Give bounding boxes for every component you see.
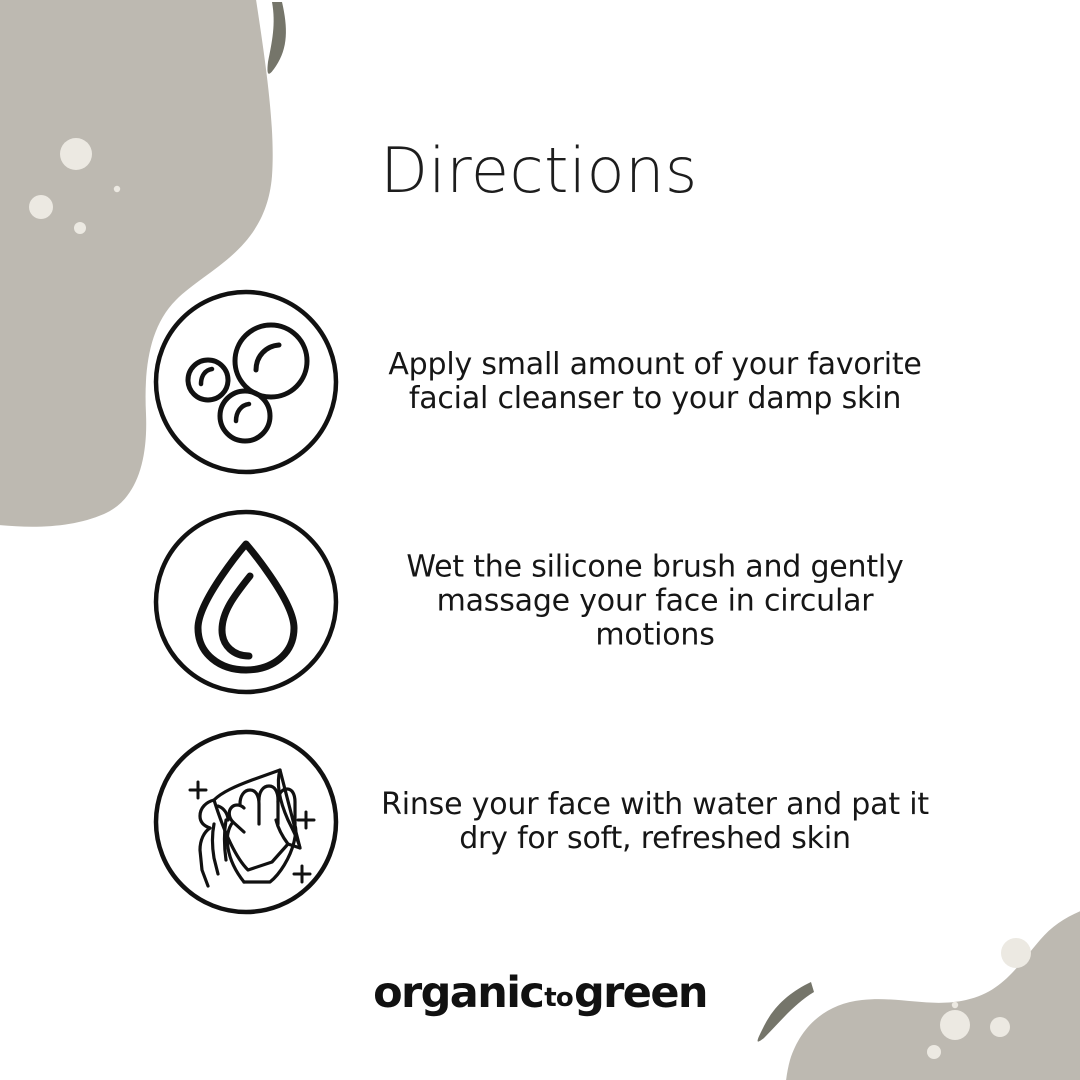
brand-logo: organictogreen <box>0 968 1080 1018</box>
blob-dot <box>990 1017 1010 1037</box>
page-title-text: Directions <box>380 134 697 207</box>
directions-infographic: Directions Apply small amount of your fa… <box>0 0 1080 1080</box>
step-text-line: massage your face in circular <box>370 585 940 619</box>
water-droplet-icon <box>152 508 340 696</box>
blob-dot <box>1001 938 1031 968</box>
step-item: Rinse your face with water and pat it dr… <box>0 712 1080 932</box>
top-crescent-arc <box>267 2 285 74</box>
step-text: Rinse your face with water and pat it dr… <box>370 788 940 856</box>
step-text-line: Apply small amount of your favorite <box>370 348 940 382</box>
brand-logo-word-one: organic <box>373 968 543 1018</box>
step-text-line: Wet the silicone brush and gently <box>370 551 940 585</box>
step-text-line: dry for soft, refreshed skin <box>370 822 940 856</box>
step-text: Apply small amount of your favorite faci… <box>370 348 940 416</box>
blob-dot <box>74 222 86 234</box>
step-text: Wet the silicone brush and gently massag… <box>370 551 940 654</box>
step-text-line: Rinse your face with water and pat it <box>370 788 940 822</box>
brand-logo-word-two: green <box>574 968 707 1018</box>
wiping-cloth-icon <box>152 728 340 916</box>
step-text-line: motions <box>370 619 940 653</box>
brand-logo-word-mid: to <box>544 983 573 1013</box>
steps-list: Apply small amount of your favorite faci… <box>0 272 1080 932</box>
blob-dot <box>927 1045 941 1059</box>
bubbles-icon <box>152 288 340 476</box>
page-title: Directions <box>0 134 1080 207</box>
step-item: Wet the silicone brush and gently massag… <box>0 492 1080 712</box>
step-text-line: facial cleanser to your damp skin <box>370 382 940 416</box>
step-item: Apply small amount of your favorite faci… <box>0 272 1080 492</box>
